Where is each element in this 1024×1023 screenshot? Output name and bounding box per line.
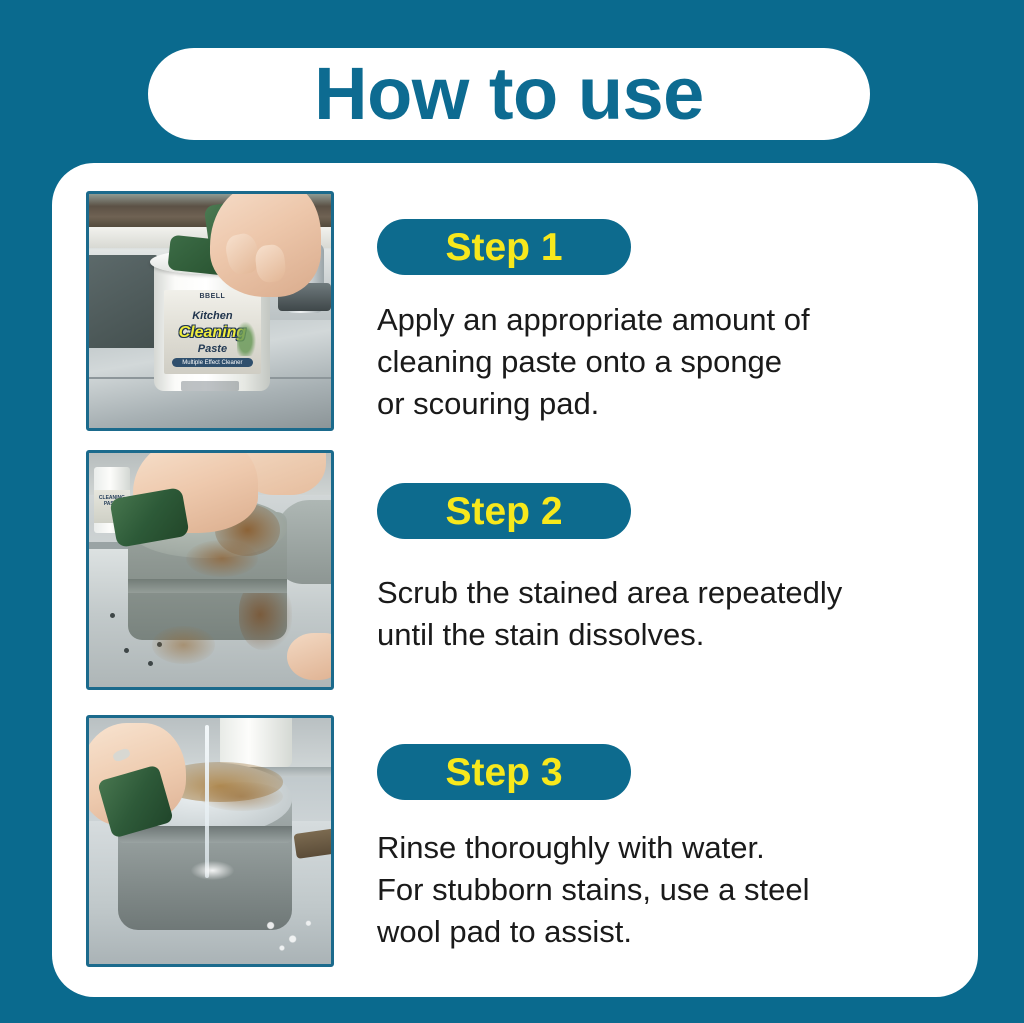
photo-3-white-container <box>220 718 293 767</box>
step-2-description: Scrub the stained area repeatedly until … <box>377 572 937 656</box>
photo-1-jar-net-weight <box>181 381 239 390</box>
photo-step-1: BBELL Kitchen Cleaning Paste Multiple Ef… <box>86 191 334 431</box>
photo-2-supporting-hand <box>287 633 331 680</box>
photo-3-pot-handle <box>293 828 331 858</box>
jar-label-subtitle: Multiple Effect Cleaner <box>172 358 253 367</box>
step-2-text-column: Step 2 Scrub the stained area repeatedly… <box>377 450 946 656</box>
photo-step-3 <box>86 715 334 967</box>
page-title: How to use <box>314 57 704 131</box>
step-row-3: Step 3 Rinse thoroughly with water. For … <box>86 715 946 975</box>
step-row-2: CLEANING PASTE Step 2 Scrub the stained … <box>86 450 946 690</box>
step-1-badge-label: Step 1 <box>445 228 562 267</box>
step-3-badge-label: Step 3 <box>445 753 562 792</box>
step-2-badge-label: Step 2 <box>445 492 562 531</box>
step-3-badge: Step 3 <box>377 744 631 800</box>
photo-1-dark-block <box>89 255 157 349</box>
photo-2-stain-2 <box>186 540 259 577</box>
step-3-text-column: Step 3 Rinse thoroughly with water. For … <box>377 715 946 953</box>
step-1-description: Apply an appropriate amount of cleaning … <box>377 299 937 425</box>
photo-step-1-image: BBELL Kitchen Cleaning Paste Multiple Ef… <box>89 194 331 428</box>
photo-step-3-image <box>89 718 331 964</box>
photo-2-pot-rim <box>128 579 288 593</box>
photo-2-stain-4 <box>152 626 215 663</box>
photo-1-jar-label: BBELL Kitchen Cleaning Paste Multiple Ef… <box>164 290 261 374</box>
photo-3-water-droplets <box>258 912 321 956</box>
photo-step-2-image: CLEANING PASTE <box>89 453 331 687</box>
step-1-text-column: Step 1 Apply an appropriate amount of cl… <box>377 191 946 425</box>
jar-label-leaf-graphic <box>237 318 258 357</box>
step-1-badge: Step 1 <box>377 219 631 275</box>
step-2-badge: Step 2 <box>377 483 631 539</box>
steps-card: BBELL Kitchen Cleaning Paste Multiple Ef… <box>52 163 978 997</box>
page-title-pill: How to use <box>148 48 870 140</box>
step-row-1: BBELL Kitchen Cleaning Paste Multiple Ef… <box>86 191 946 431</box>
photo-3-water-stream <box>205 725 209 878</box>
step-3-description: Rinse thoroughly with water. For stubbor… <box>377 827 937 953</box>
photo-3-remaining-stain-2 <box>200 782 282 812</box>
photo-step-2: CLEANING PASTE <box>86 450 334 690</box>
